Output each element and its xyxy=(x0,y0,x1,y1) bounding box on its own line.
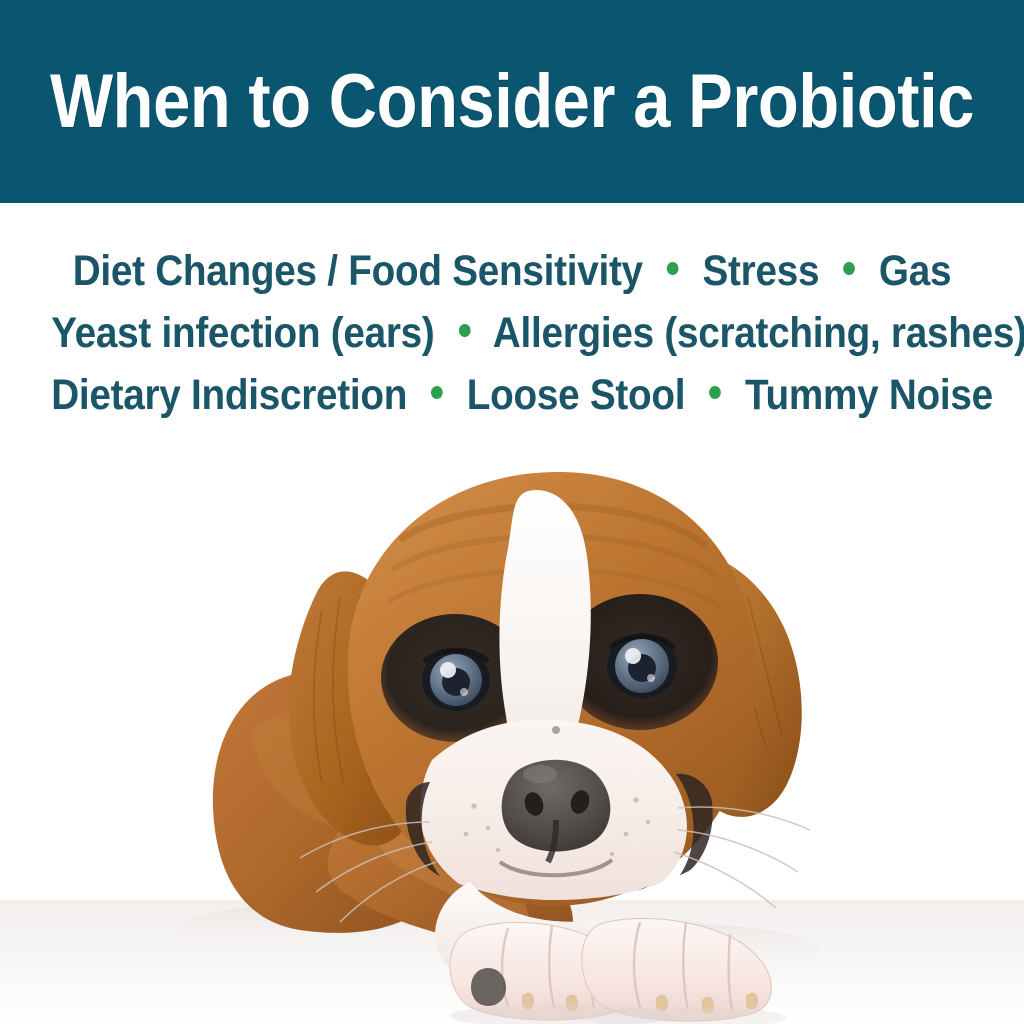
symptom-item-dietary-indiscretion: Dietary Indiscretion xyxy=(51,371,407,419)
symptom-item-loose-stool: Loose Stool xyxy=(467,371,685,419)
boxer-puppy-image xyxy=(0,430,1024,1024)
symptom-item-yeast-infection: Yeast infection (ears) xyxy=(51,309,434,357)
symptom-item-diet-changes: Diet Changes / Food Sensitivity xyxy=(73,247,643,295)
header-banner: When to Consider a Probiotic xyxy=(0,0,1024,203)
puppy-eye-right xyxy=(607,634,677,698)
symptom-line-2: Yeast infection (ears) Allergies (scratc… xyxy=(51,302,973,364)
page-title: When to Consider a Probiotic xyxy=(50,64,974,140)
bullet-separator-icon xyxy=(843,262,855,275)
symptom-list: Diet Changes / Food Sensitivity Stress G… xyxy=(0,240,1024,426)
symptom-item-stress: Stress xyxy=(703,247,820,295)
bullet-separator-icon xyxy=(459,324,471,337)
symptom-line-1: Diet Changes / Food Sensitivity Stress G… xyxy=(51,240,973,302)
bullet-separator-icon xyxy=(709,386,721,399)
puppy-paw-pad xyxy=(471,968,506,1006)
bullet-separator-icon xyxy=(431,386,443,399)
infographic-root: When to Consider a Probiotic Diet Change… xyxy=(0,0,1024,1024)
symptom-line-3: Dietary Indiscretion Loose Stool Tummy N… xyxy=(51,364,973,426)
bullet-separator-icon xyxy=(667,262,679,275)
puppy-eye-left xyxy=(422,649,490,711)
symptom-item-allergies: Allergies (scratching, rashes) xyxy=(493,309,1024,357)
symptom-item-gas: Gas xyxy=(879,247,951,295)
symptom-item-tummy-noise: Tummy Noise xyxy=(745,371,993,419)
puppy-photo-area xyxy=(0,430,1024,1024)
